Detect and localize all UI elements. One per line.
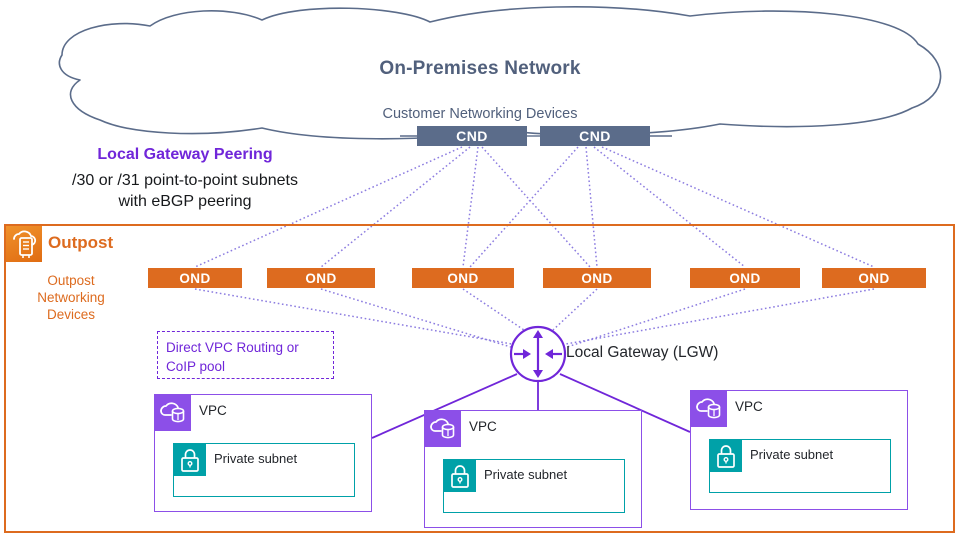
customer-networking-devices-caption: Customer Networking Devices xyxy=(0,106,960,122)
private-subnet-label: Private subnet xyxy=(750,447,833,462)
vpc-label: VPC xyxy=(199,403,227,418)
ond-box-1[interactable]: OND xyxy=(148,268,242,288)
routing-note-line1: Direct VPC Routing or xyxy=(166,338,334,357)
outpost-rack-icon xyxy=(6,226,42,262)
cnd-box-2[interactable]: CND xyxy=(540,126,650,146)
vpc-card-1[interactable]: VPC Private subnet xyxy=(154,394,372,512)
on-premises-network-title: On-Premises Network xyxy=(0,58,960,80)
ond-caption-line2: Networking xyxy=(12,289,130,306)
routing-note-text: Direct VPC Routing or CoIP pool xyxy=(166,338,334,376)
private-subnet-lock-icon xyxy=(174,444,206,476)
local-gateway-label: Local Gateway (LGW) xyxy=(566,344,718,362)
private-subnet-lock-icon xyxy=(710,440,742,472)
private-subnet-card[interactable]: Private subnet xyxy=(443,459,625,513)
outpost-networking-devices-caption: Outpost Networking Devices xyxy=(12,272,130,323)
routing-note-line2: CoIP pool xyxy=(166,357,334,376)
private-subnet-lock-icon xyxy=(444,460,476,492)
private-subnet-card[interactable]: Private subnet xyxy=(709,439,891,493)
ond-box-4[interactable]: OND xyxy=(543,268,651,288)
peering-subtitle-line1: /30 or /31 point-to-point subnets xyxy=(0,170,370,191)
vpc-label: VPC xyxy=(469,419,497,434)
vpc-icon xyxy=(691,391,727,427)
ond-box-2[interactable]: OND xyxy=(267,268,375,288)
private-subnet-label: Private subnet xyxy=(484,467,567,482)
outpost-title: Outpost xyxy=(48,233,113,253)
vpc-label: VPC xyxy=(735,399,763,414)
peering-subtitle-line2: with eBGP peering xyxy=(0,191,370,212)
diagram-canvas: On-Premises Network Customer Networking … xyxy=(0,0,960,540)
ond-box-5[interactable]: OND xyxy=(690,268,800,288)
vpc-icon xyxy=(155,395,191,431)
ond-caption-line3: Devices xyxy=(12,306,130,323)
ond-box-6[interactable]: OND xyxy=(822,268,926,288)
ond-caption-line1: Outpost xyxy=(12,272,130,289)
vpc-card-3[interactable]: VPC Private subnet xyxy=(690,390,908,510)
private-subnet-card[interactable]: Private subnet xyxy=(173,443,355,497)
vpc-card-2[interactable]: VPC Private subnet xyxy=(424,410,642,528)
vpc-icon xyxy=(425,411,461,447)
private-subnet-label: Private subnet xyxy=(214,451,297,466)
ond-box-3[interactable]: OND xyxy=(412,268,514,288)
cnd-box-1[interactable]: CND xyxy=(417,126,527,146)
local-gateway-peering-title: Local Gateway Peering xyxy=(0,146,370,164)
local-gateway-peering-subtitle: /30 or /31 point-to-point subnets with e… xyxy=(0,170,370,212)
